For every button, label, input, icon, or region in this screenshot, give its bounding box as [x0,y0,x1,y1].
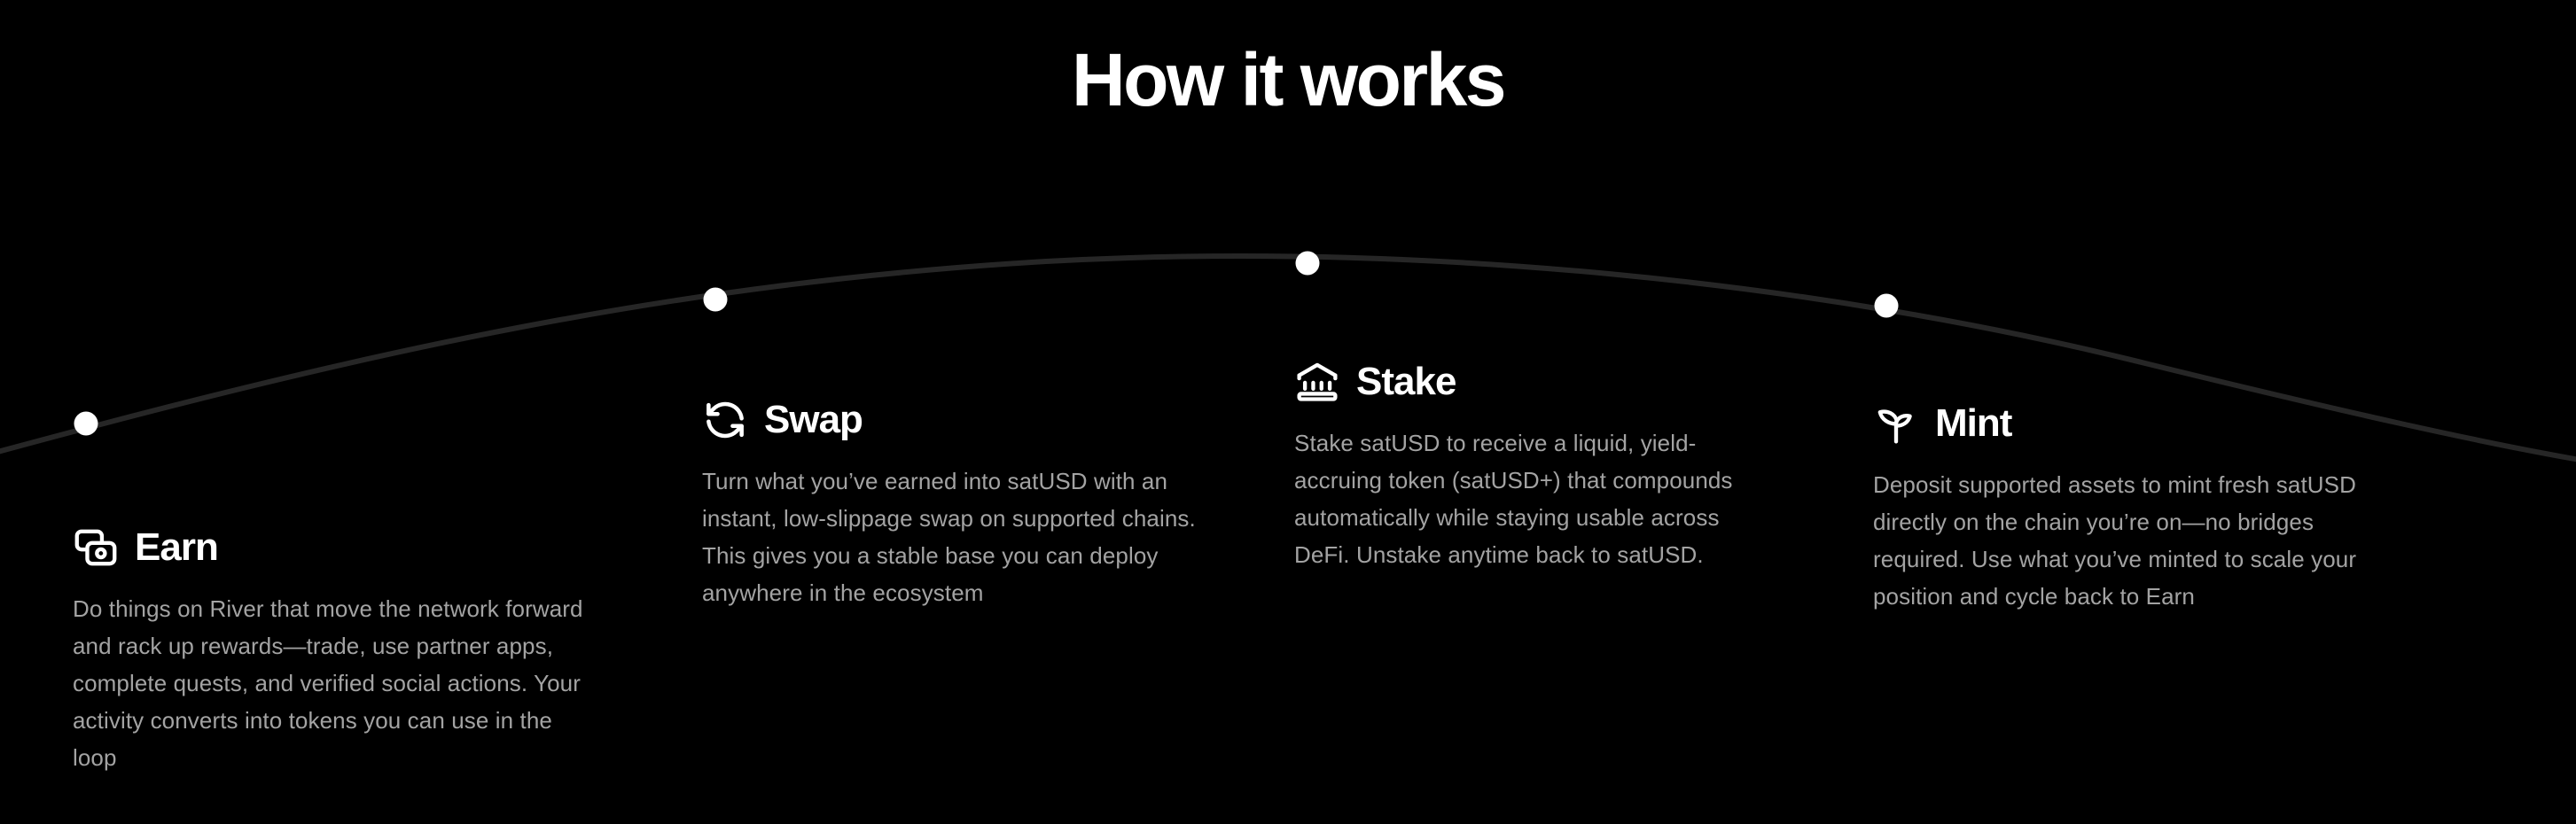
step-description-stake: Stake satUSD to receive a liquid, yield-… [1294,424,1764,573]
step-header-swap: Swap [702,397,1198,443]
step-header-earn: Earn [73,525,587,571]
step-description-mint: Deposit supported assets to mint fresh s… [1873,466,2369,615]
step-title-mint: Mint [1935,403,2011,444]
step-description-swap: Turn what you’ve earned into satUSD with… [702,463,1198,611]
step-header-stake: Stake [1294,359,1764,405]
step-description-earn: Do things on River that move the network… [73,590,587,777]
step-title-stake: Stake [1356,361,1456,402]
step-card-earn: Earn Do things on River that move the ne… [73,525,587,777]
stacked-cards-icon [73,525,119,571]
bank-icon [1294,359,1340,405]
step-header-mint: Mint [1873,400,2369,447]
step-card-swap: Swap Turn what you’ve earned into satUSD… [702,397,1198,611]
step-card-mint: Mint Deposit supported assets to mint fr… [1873,400,2369,615]
step-title-earn: Earn [135,527,218,568]
arc-dot-mint [1875,294,1899,318]
page-title: How it works [0,43,2576,117]
how-it-works-section: How it works Earn Do things on River tha… [0,0,2576,824]
arc-dot-earn [74,412,98,436]
step-card-stake: Stake Stake satUSD to receive a liquid, … [1294,359,1764,573]
arc-dot-swap [704,288,728,312]
step-title-swap: Swap [764,400,863,440]
arc-dot-stake [1296,252,1320,276]
sprout-icon [1873,400,1919,447]
swap-arrows-icon [702,397,748,443]
